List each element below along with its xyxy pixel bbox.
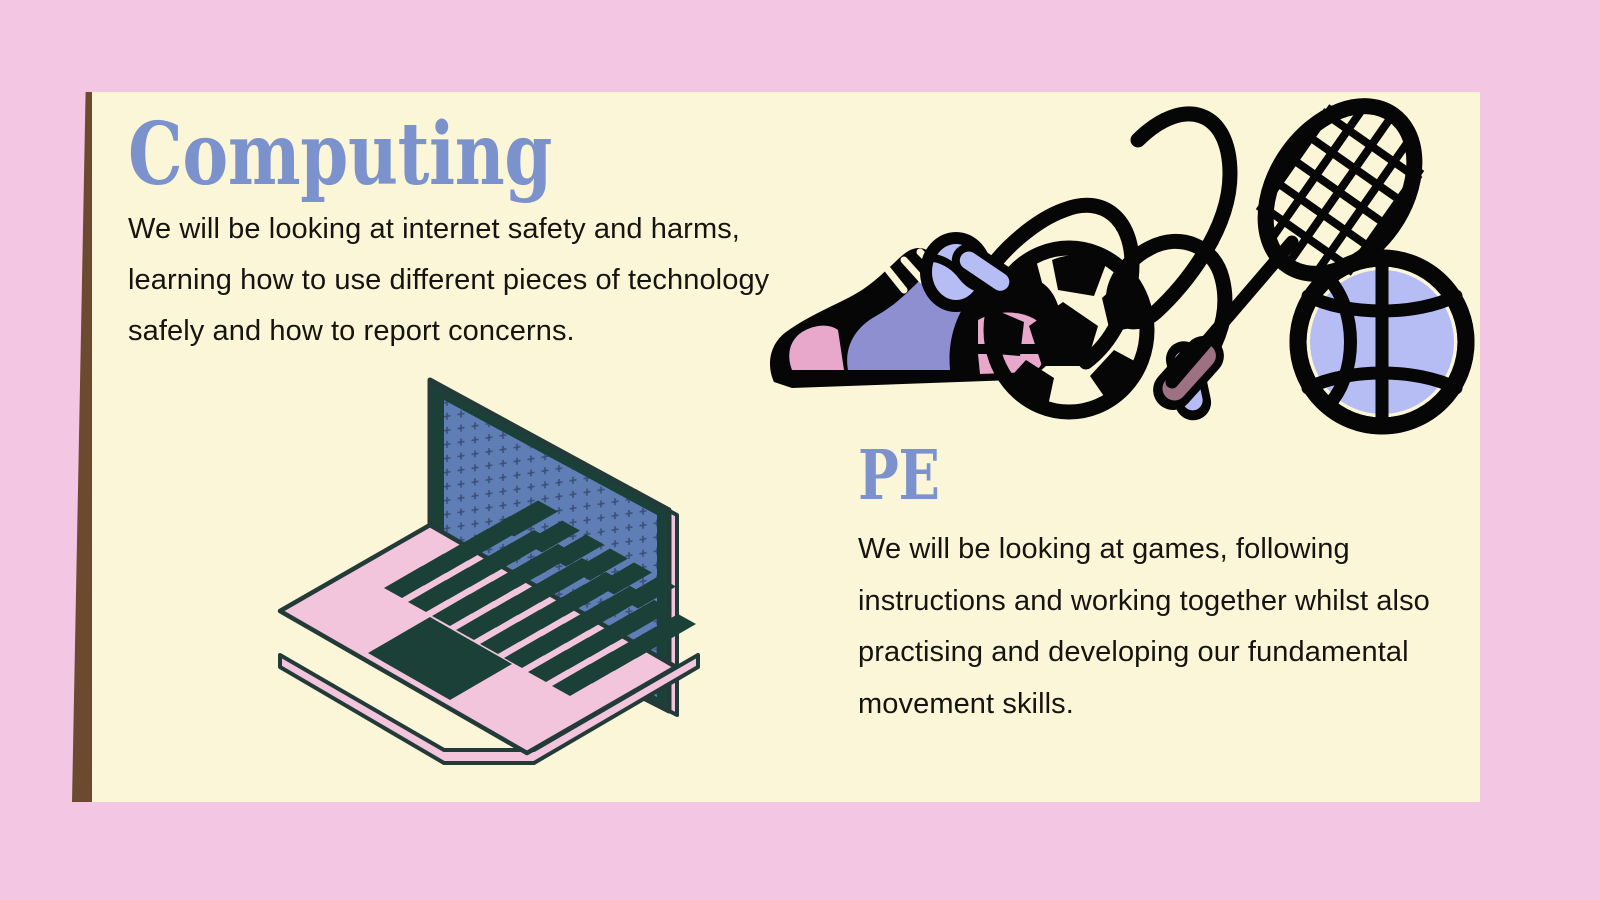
computing-section: Computing We will be looking at internet… bbox=[128, 112, 808, 357]
computing-heading: Computing bbox=[128, 112, 672, 198]
pe-heading: PE bbox=[858, 442, 1322, 510]
content-card: Computing We will be looking at internet… bbox=[92, 92, 1480, 802]
laptop-illustration bbox=[272, 367, 702, 797]
slide-canvas: Computing We will be looking at internet… bbox=[0, 0, 1600, 900]
pe-section: PE We will be looking at games, followin… bbox=[858, 442, 1438, 730]
sports-equipment-illustration bbox=[752, 82, 1472, 427]
basketball-icon bbox=[1298, 258, 1466, 426]
pe-description: We will be looking at games, following i… bbox=[858, 524, 1438, 730]
computing-description: We will be looking at internet safety an… bbox=[128, 204, 808, 357]
